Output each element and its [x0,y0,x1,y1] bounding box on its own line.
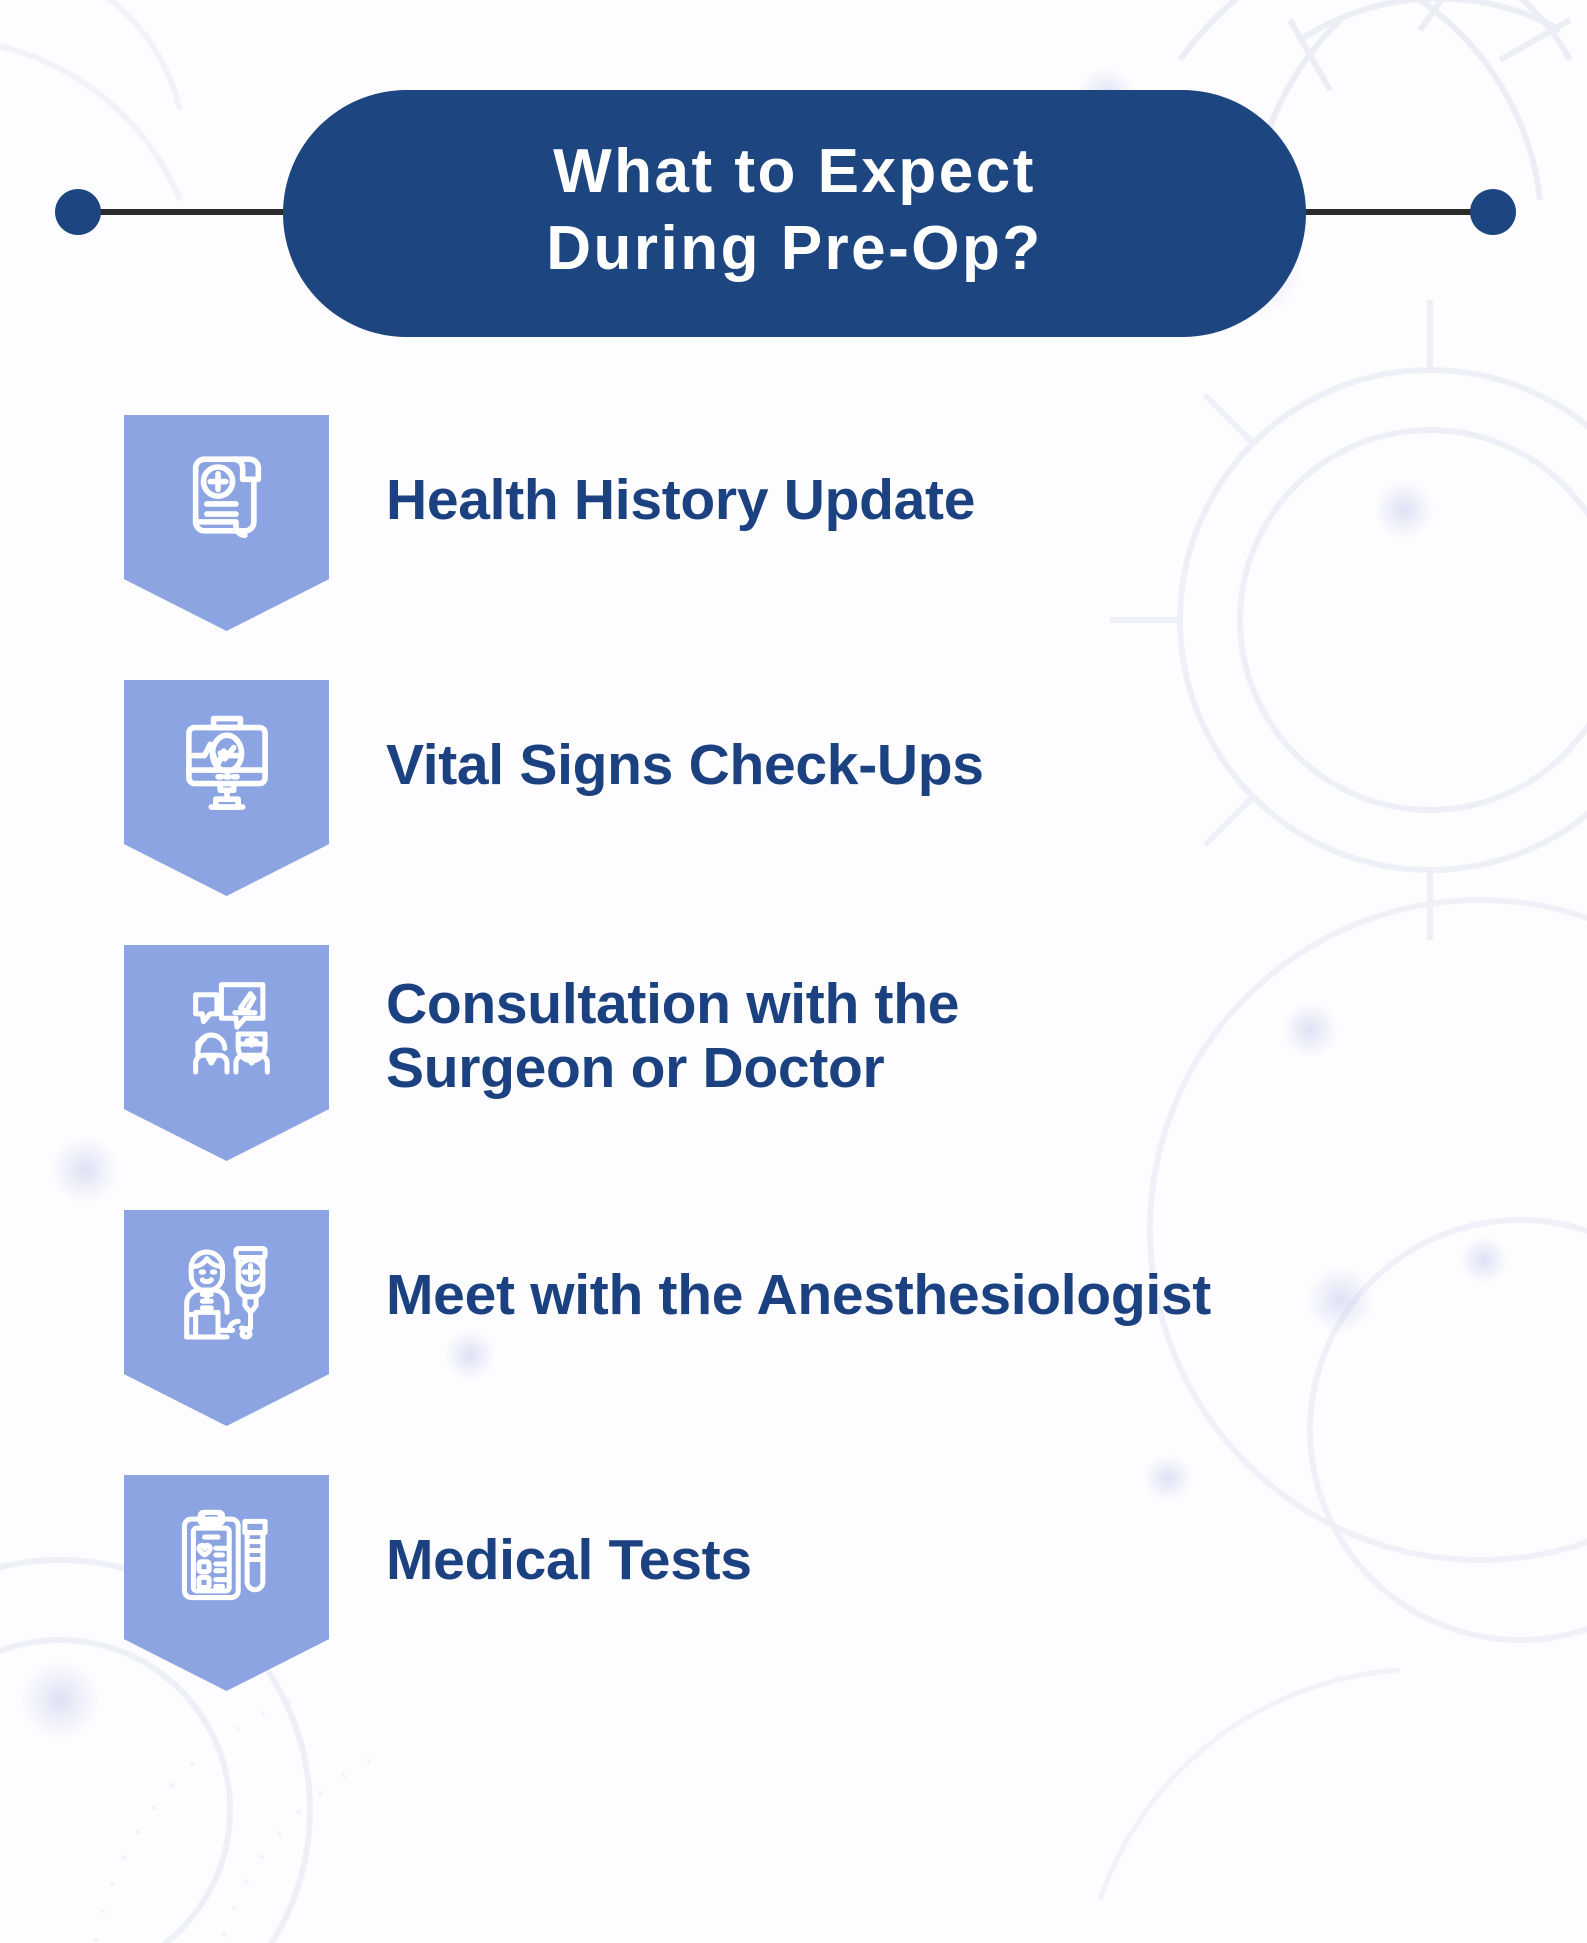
header: What to Expect During Pre-Op? [0,0,1587,340]
doctor-patient-consultation-icon [171,969,283,1081]
step-label: Meet with the Anesthesiologist [386,1210,1587,1328]
steps-list: Health History Update V [0,415,1587,1740]
list-item[interactable]: Vital Signs Check-Ups [0,680,1587,945]
medical-scroll-icon [171,439,283,551]
clipboard-test-tube-icon [171,1499,283,1611]
step-label: Medical Tests [386,1475,1587,1593]
step-banner [124,415,329,631]
step-label: Health History Update [386,415,1587,533]
step-label: Vital Signs Check-Ups [386,680,1587,798]
list-item[interactable]: Consultation with the Surgeon or Doctor [0,945,1587,1210]
step-banner [124,1210,329,1426]
step-banner [124,680,329,896]
header-dot-left [55,189,101,235]
page-title: What to Expect During Pre-Op? [546,134,1043,294]
header-dot-right [1470,189,1516,235]
list-item[interactable]: Medical Tests [0,1475,1587,1740]
step-banner [124,945,329,1161]
step-banner [124,1475,329,1691]
list-item[interactable]: Meet with the Anesthesiologist [0,1210,1587,1475]
list-item[interactable]: Health History Update [0,415,1587,680]
header-rule-right [1280,209,1500,215]
step-label: Consultation with the Surgeon or Doctor [386,945,1587,1101]
patient-iv-drip-icon [171,1234,283,1346]
vital-signs-monitor-icon [171,704,283,816]
title-pill: What to Expect During Pre-Op? [283,90,1306,337]
